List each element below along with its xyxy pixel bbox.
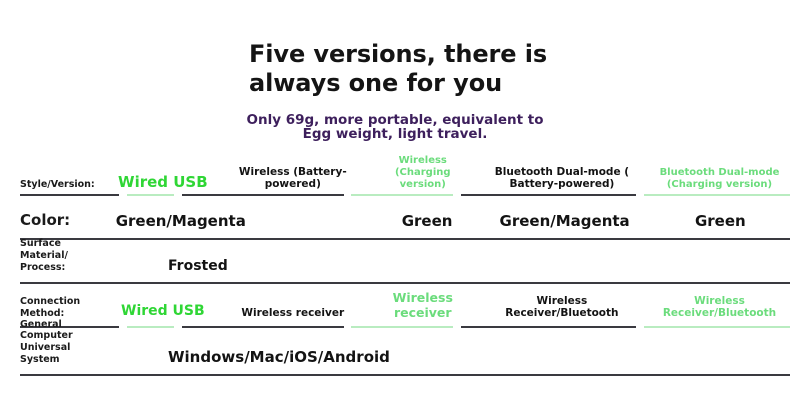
cell-color-bluetooth-charging: Green [651, 212, 790, 238]
cell-color-wireless-battery [222, 230, 376, 238]
cell-connection-wired-usb: Wired USB [111, 303, 215, 326]
row-divider-operating-system [0, 374, 790, 376]
row-label-surface-material: Surface Material/ Process: [0, 238, 118, 282]
cell-color-wired-usb: Green/Magenta [110, 212, 222, 238]
table-row-style-version: Style/Version: Wired USB Wireless (Batte… [0, 160, 790, 194]
table-row-surface-material: Surface Material/ Process: Frosted [0, 240, 790, 282]
cell-color-bluetooth-battery: Green/Magenta [479, 212, 651, 238]
subtitle-line-1: Only 69g, more portable, equivalent to [235, 113, 555, 127]
table-row-operating-system: General Computer Universal System Window… [0, 328, 790, 374]
cell-connection-wireless-battery: Wireless receiver [215, 307, 371, 326]
cell-operating-system-value: Windows/Mac/iOS/Android [118, 348, 790, 374]
cell-style-version-wired-usb: Wired USB [111, 173, 215, 194]
row-label-style-version: Style/Version: [0, 179, 111, 194]
page-title: Five versions, there is always one for y… [241, 40, 549, 99]
heading-block: Five versions, there is always one for y… [0, 40, 790, 141]
cell-style-version-bluetooth-charging: Bluetooth Dual-mode (Charging version) [649, 167, 790, 194]
cell-color-wireless-charging: Green [376, 212, 479, 238]
subtitle-line-2: Egg weight, light travel. [235, 127, 555, 141]
table-row-connection-method: Connection Method: Wired USB Wireless re… [0, 284, 790, 326]
table-row-color: Color: Green/Magenta Green Green/Magenta… [0, 196, 790, 238]
row-label-operating-system: General Computer Universal System [0, 319, 118, 375]
cell-surface-material-value: Frosted [118, 258, 790, 282]
cell-connection-wireless-charging: Wireless receiver [371, 290, 475, 326]
page-subtitle: Only 69g, more portable, equivalent to E… [235, 113, 555, 141]
cell-style-version-wireless-battery: Wireless (Battery-powered) [215, 166, 371, 194]
row-label-color: Color: [0, 211, 110, 238]
cell-connection-bluetooth-charging: Wireless Receiver/Bluetooth [649, 295, 790, 326]
cell-connection-bluetooth-battery: Wireless Receiver/Bluetooth [475, 295, 649, 326]
cell-style-version-bluetooth-battery: Bluetooth Dual-mode ( Battery-powered) [475, 166, 649, 194]
cell-style-version-wireless-charging: Wireless (Charging version) [371, 155, 475, 194]
spec-comparison-table: Style/Version: Wired USB Wireless (Batte… [0, 160, 790, 376]
